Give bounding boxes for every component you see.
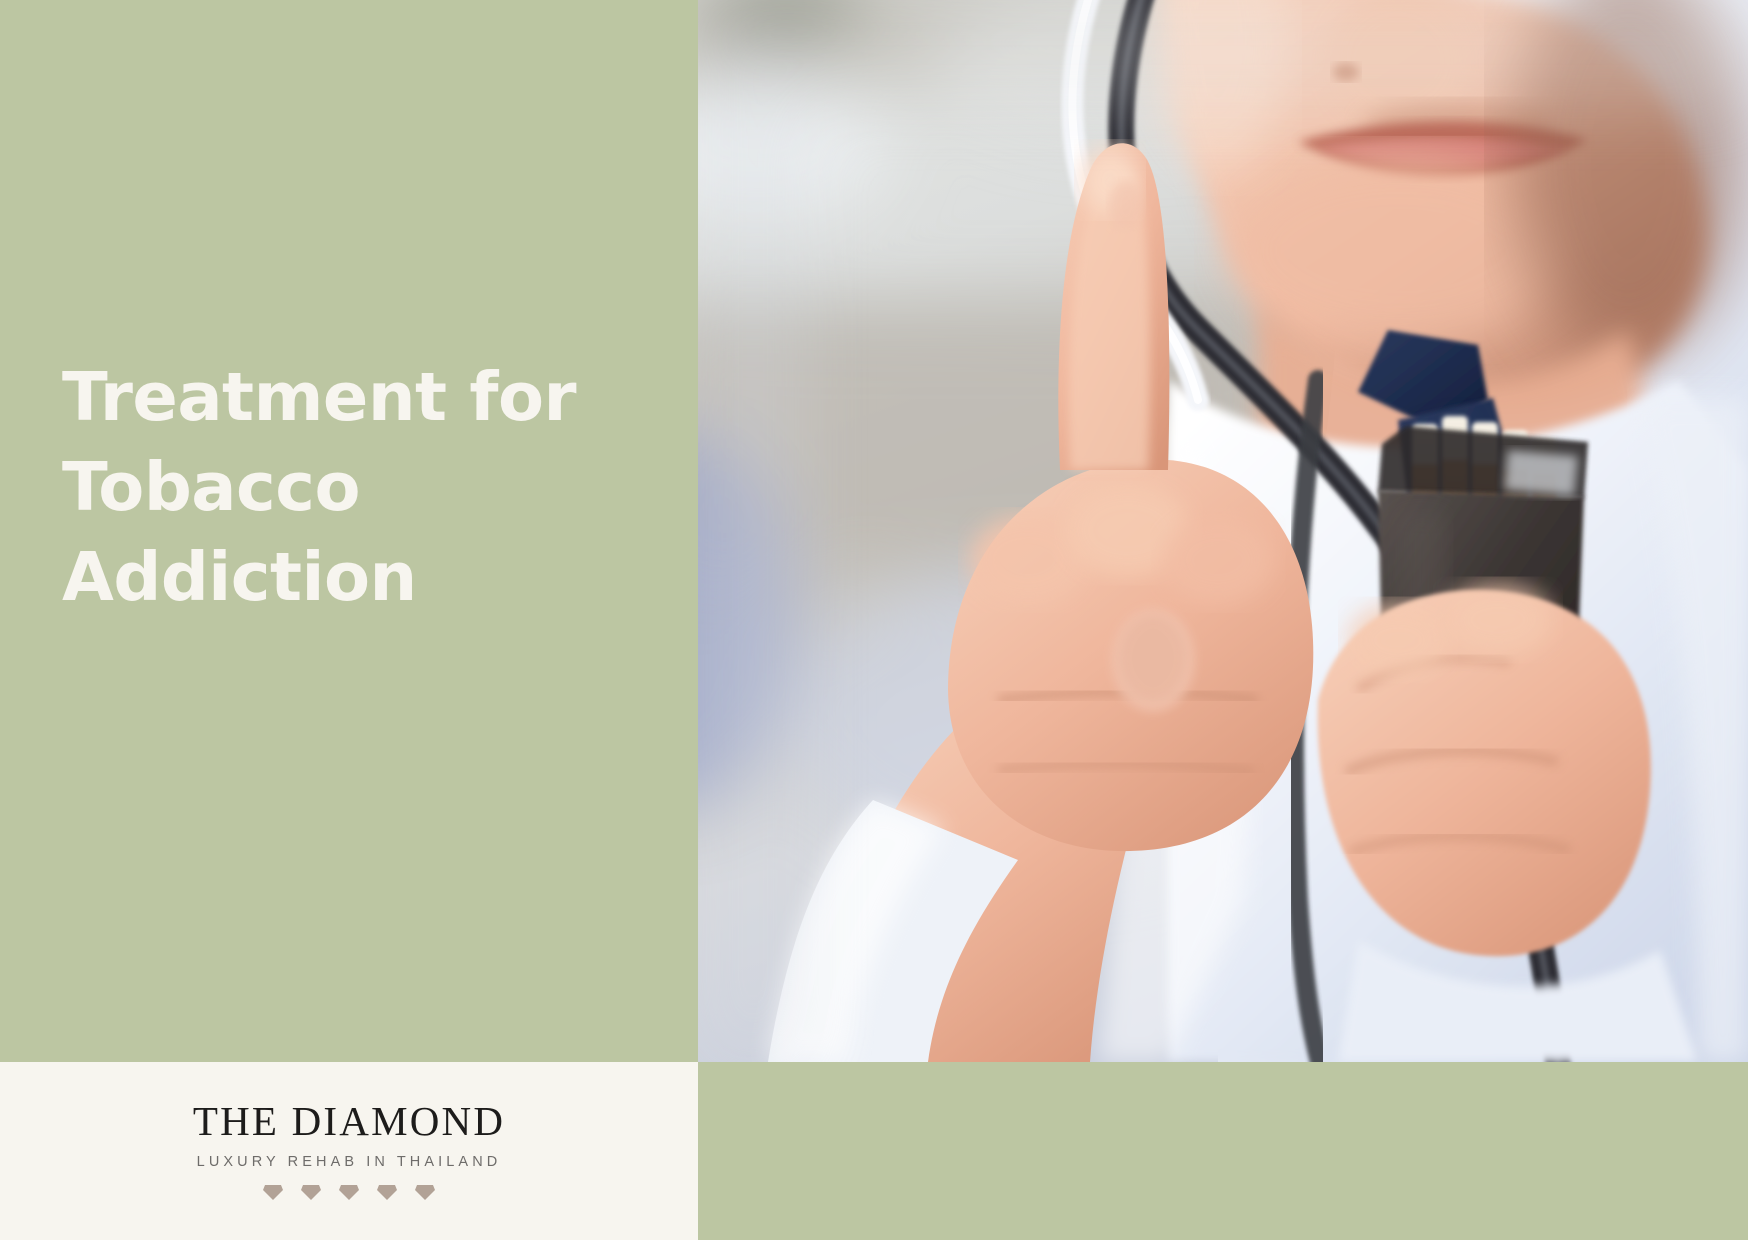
poster-canvas: Treatment for Tobacco Addiction THE DIAM… <box>0 0 1748 1240</box>
brand-logo: THE DIAMOND LUXURY REHAB IN THAILAND <box>0 1062 698 1240</box>
logo-tagline: LUXURY REHAB IN THAILAND <box>197 1155 502 1170</box>
footer-accent-panel <box>698 1062 1748 1240</box>
headline-panel: Treatment for Tobacco Addiction <box>0 0 698 1062</box>
logo-wordmark: THE DIAMOND <box>193 1101 505 1142</box>
diamond-icon <box>262 1184 284 1201</box>
diamond-icon <box>414 1184 436 1201</box>
hero-photo <box>698 0 1748 1062</box>
diamond-icon <box>300 1184 322 1201</box>
doctor-photo-illustration <box>698 0 1748 1062</box>
logo-diamond-row <box>262 1184 436 1201</box>
page-title: Treatment for Tobacco Addiction <box>62 352 642 622</box>
diamond-icon <box>338 1184 360 1201</box>
diamond-icon <box>376 1184 398 1201</box>
